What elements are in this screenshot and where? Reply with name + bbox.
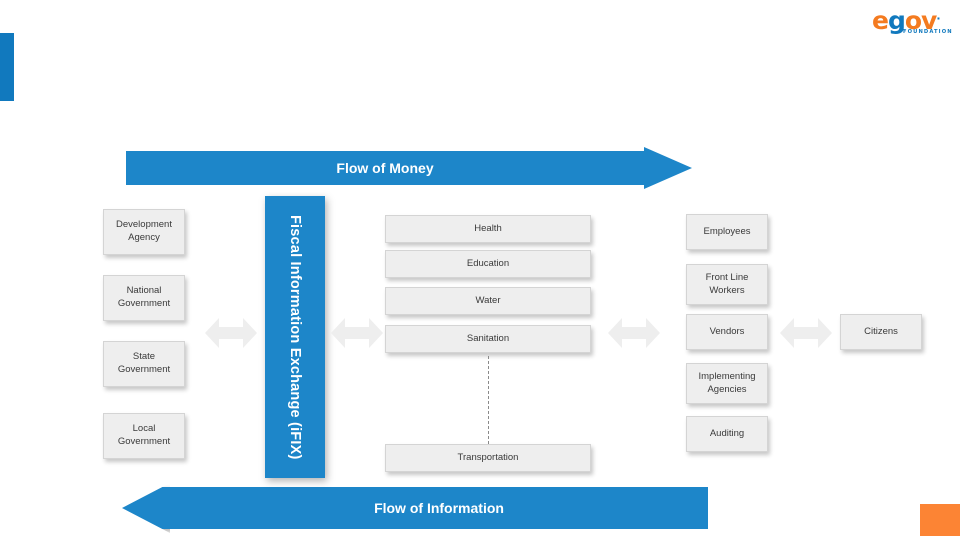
node-national-government: National Government: [103, 275, 185, 321]
node-label: Implementing Agencies: [691, 371, 763, 397]
sanitation-transportation-connector: [488, 356, 489, 444]
bidirectional-arrow-actors-to-citizens: [780, 318, 832, 348]
node-label: Front Line Workers: [691, 272, 763, 298]
ifix-panel: Fiscal Information Exchange (iFIX): [265, 196, 325, 478]
logo-letter-e: e: [872, 6, 888, 35]
node-state-government: State Government: [103, 341, 185, 387]
node-vendors: Vendors: [686, 314, 768, 350]
flow-of-information-label: Flow of Information: [374, 500, 504, 516]
node-label: Local Government: [108, 423, 180, 449]
node-front-line-workers: Front Line Workers: [686, 264, 768, 305]
bidirectional-arrow-sectors-to-actors: [608, 318, 660, 348]
node-label: Water: [476, 295, 501, 308]
logo-dot: .: [936, 10, 939, 23]
node-transportation: Transportation: [385, 444, 591, 472]
node-label: Employees: [704, 226, 751, 239]
node-auditing: Auditing: [686, 416, 768, 452]
flow-of-money-label: Flow of Money: [336, 160, 433, 176]
node-health: Health: [385, 215, 591, 243]
node-label: Auditing: [710, 428, 744, 441]
node-sanitation: Sanitation: [385, 325, 591, 353]
node-education: Education: [385, 250, 591, 278]
node-implementing-agencies: Implementing Agencies: [686, 363, 768, 404]
accent-square-bottom-right: [920, 504, 960, 536]
flow-of-money-banner: Flow of Money: [126, 147, 692, 189]
node-label: Development Agency: [108, 219, 180, 245]
logo-subtitle: FOUNDATION: [903, 29, 953, 35]
node-citizens: Citizens: [840, 314, 922, 350]
node-label: Education: [467, 258, 509, 271]
node-label: Sanitation: [467, 333, 509, 346]
accent-bar-left: [0, 33, 14, 101]
node-label: Citizens: [864, 326, 898, 339]
node-label: Vendors: [710, 326, 745, 339]
node-label: Transportation: [458, 452, 519, 465]
egov-foundation-logo: egov. FOUNDATION: [872, 8, 952, 38]
node-local-government: Local Government: [103, 413, 185, 459]
flow-of-information-banner: Flow of Information: [122, 487, 708, 529]
ifix-panel-label: Fiscal Information Exchange (iFIX): [287, 215, 303, 459]
node-water: Water: [385, 287, 591, 315]
node-label: National Government: [108, 285, 180, 311]
node-development-agency: Development Agency: [103, 209, 185, 255]
bidirectional-arrow-ifix-to-sectors: [331, 318, 383, 348]
bidirectional-arrow-funders-to-ifix: [205, 318, 257, 348]
node-label: State Government: [108, 351, 180, 377]
node-employees: Employees: [686, 214, 768, 250]
node-label: Health: [474, 223, 501, 236]
